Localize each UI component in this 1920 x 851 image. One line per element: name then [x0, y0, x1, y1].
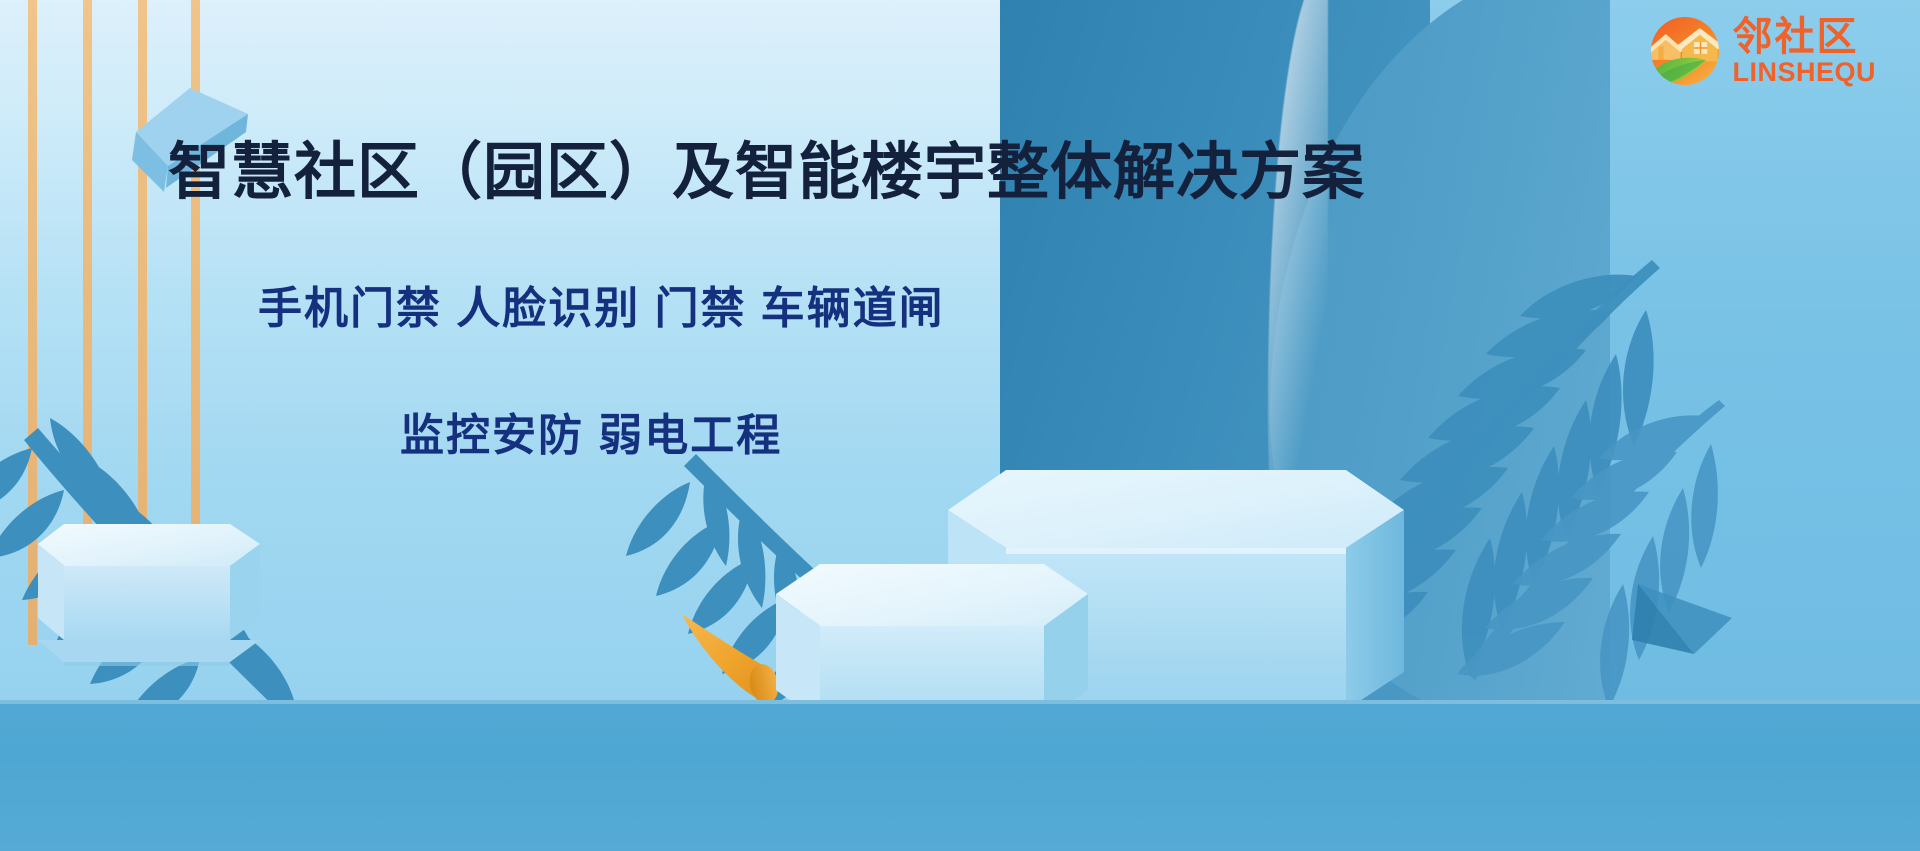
brand-logo[interactable]: 邻社区 LINSHEQU	[1648, 14, 1876, 88]
house-sun-leaf-icon	[1648, 14, 1722, 88]
podium-left-base	[38, 640, 288, 672]
subtitle-line-1: 手机门禁 人脸识别 门禁 车辆道闸	[258, 285, 945, 333]
promo-banner: 智慧社区（园区）及智能楼宇整体解决方案 手机门禁 人脸识别 门禁 车辆道闸 监控…	[0, 0, 1920, 851]
blue-triangle-accent	[1628, 584, 1748, 694]
floor-surface	[0, 700, 1920, 851]
logo-name-cn: 邻社区	[1732, 17, 1876, 57]
orange-cone	[676, 608, 786, 703]
subtitle-line-2: 监控安防 弱电工程	[400, 412, 782, 460]
logo-wordmark: 邻社区 LINSHEQU	[1732, 17, 1876, 86]
logo-name-en: LINSHEQU	[1732, 59, 1876, 86]
floor-horizon-line	[0, 700, 1920, 704]
page-title: 智慧社区（园区）及智能楼宇整体解决方案	[168, 140, 1365, 205]
